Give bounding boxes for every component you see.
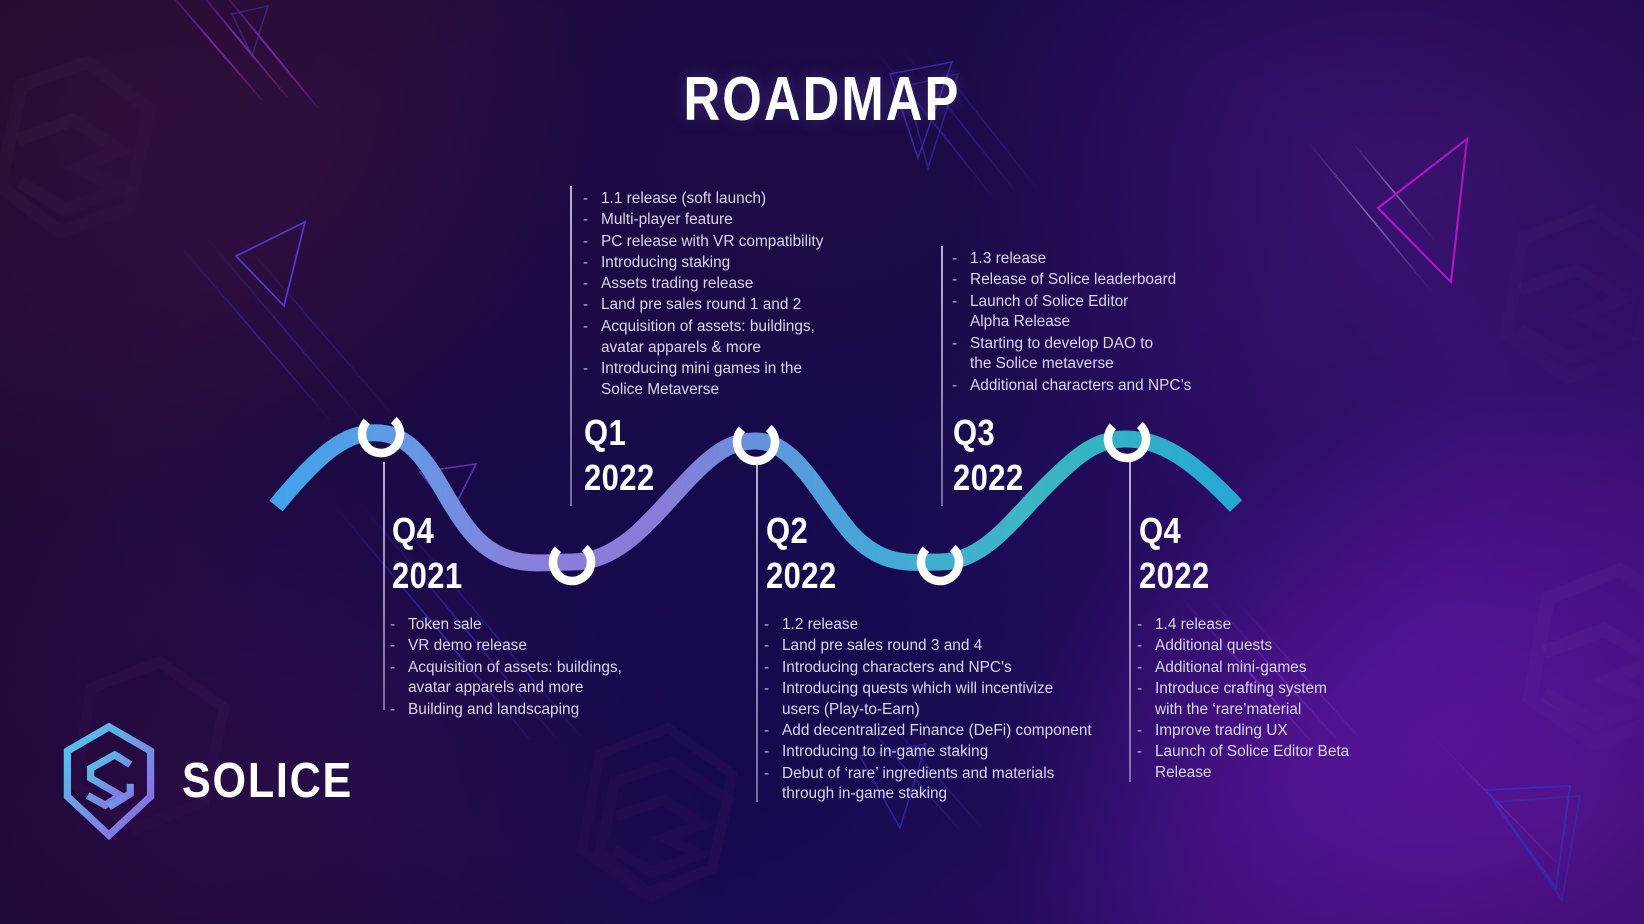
list-item: Introduce crafting system with the ‘rare… (1137, 679, 1427, 721)
list-item: Introducing staking (583, 253, 843, 274)
quarter-rule-q4-2021 (383, 462, 385, 710)
brand-logo: SOLICE (60, 722, 376, 840)
quarter-items-q2-2022: 1.2 release Land pre sales round 3 and 4… (764, 615, 1094, 806)
list-item: Release of Solice leaderboard (952, 270, 1222, 291)
quarter-items-q1-2022: 1.1 release (soft launch) Multi-player f… (583, 189, 843, 401)
list-item: Debut of ‘rare’ ingredients and material… (764, 764, 1094, 806)
quarter-label-q1-2022: Q1 2022 (584, 410, 655, 500)
list-item: Introducing to in-game staking (764, 742, 1094, 763)
list-item: Additional characters and NPC’s (952, 376, 1222, 397)
list-item: Add decentralized Finance (DeFi) compone… (764, 721, 1094, 742)
list-item: VR demo release (390, 636, 640, 657)
quarter-items-q4-2022: 1.4 release Additional quests Additional… (1137, 615, 1427, 784)
list-item: 1.4 release (1137, 615, 1427, 636)
list-item: Building and landscaping (390, 700, 640, 721)
quarter-items-q4-2021: Token sale VR demo release Acquisition o… (390, 615, 640, 721)
list-item: Improve trading UX (1137, 721, 1427, 742)
quarter-label-q3-2022: Q3 2022 (953, 410, 1024, 500)
list-item: Land pre sales round 1 and 2 (583, 295, 843, 316)
quarter-rule-q3-2022 (941, 246, 943, 506)
quarter-label-q4-2021: Q4 2021 (392, 508, 463, 598)
list-item: 1.1 release (soft launch) (583, 189, 843, 210)
quarter-label-q4-2022: Q4 2022 (1139, 508, 1210, 598)
list-item: 1.2 release (764, 615, 1094, 636)
list-item: Launch of Solice Editor Beta Release (1137, 742, 1427, 784)
list-item: Additional quests (1137, 636, 1427, 657)
quarter-items-q3-2022: 1.3 release Release of Solice leaderboar… (952, 249, 1222, 397)
list-item: Starting to develop DAO to the Solice me… (952, 334, 1222, 376)
quarter-rule-q2-2022 (756, 462, 758, 802)
list-item: Multi-player feature (583, 210, 843, 231)
list-item: PC release with VR compatibility (583, 232, 843, 253)
list-item: 1.3 release (952, 249, 1222, 270)
list-item: Additional mini-games (1137, 658, 1427, 679)
list-item: Acquisition of assets: buildings, avatar… (583, 317, 843, 359)
solice-hexagon-icon (60, 722, 158, 840)
brand-name: SOLICE (182, 753, 353, 809)
list-item: Assets trading release (583, 274, 843, 295)
quarter-rule-q4-2022 (1129, 462, 1131, 782)
quarter-rule-q1-2022 (570, 186, 572, 506)
quarter-label-q2-2022: Q2 2022 (766, 508, 837, 598)
list-item: Introducing quests which will incentiviz… (764, 679, 1094, 721)
list-item: Token sale (390, 615, 640, 636)
list-item: Introducing characters and NPC's (764, 658, 1094, 679)
list-item: Acquisition of assets: buildings, avatar… (390, 658, 640, 700)
list-item: Land pre sales round 3 and 4 (764, 636, 1094, 657)
list-item: Introducing mini games in the Solice Met… (583, 359, 843, 401)
list-item: Launch of Solice Editor Alpha Release (952, 292, 1222, 334)
roadmap-infographic: ROADMAP (0, 0, 1644, 924)
